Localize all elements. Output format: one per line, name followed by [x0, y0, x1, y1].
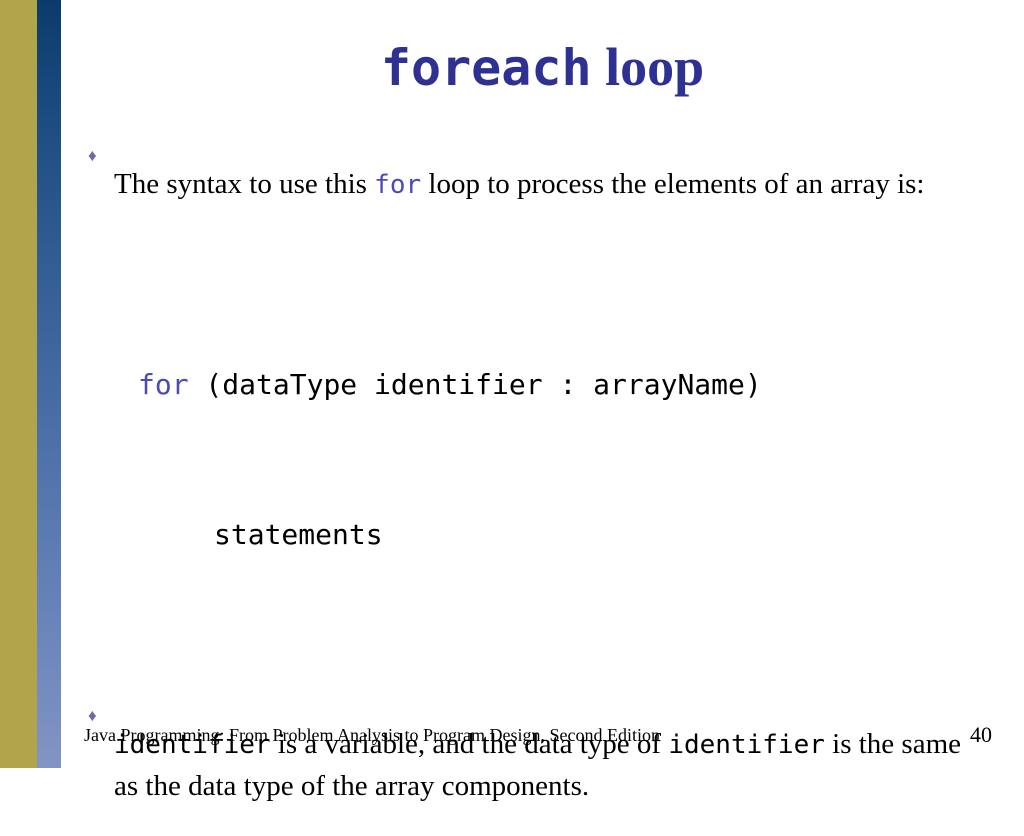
- code-signature-text: (dataType identifier : arrayName): [189, 368, 762, 401]
- page-title-code-part: foreach: [381, 39, 592, 97]
- left-blue-gradient-band: [37, 0, 61, 768]
- bullet-syntax-keyword-for: for: [374, 170, 421, 200]
- code-sample-line-signature: for (dataType identifier : arrayName): [138, 360, 988, 410]
- bullet-syntax-seg-2: loop to process the elements of an array…: [421, 168, 924, 200]
- slide-canvas: foreach loop ♦ The syntax to use this fo…: [0, 0, 1024, 768]
- left-gold-band: [0, 0, 37, 768]
- page-number: 40: [970, 722, 992, 748]
- bullet-item-syntax-text: The syntax to use this for loop to proce…: [114, 164, 988, 205]
- bullet-item-identifier: ♦ identifier is a variable, and the data…: [88, 695, 988, 836]
- bullet-syntax-seg-1: The syntax to use this: [114, 168, 374, 200]
- page-title: foreach loop: [61, 39, 1024, 96]
- bullet-item-syntax: ♦ The syntax to use this for loop to pro…: [88, 135, 988, 234]
- diamond-bullet-icon: ♦: [88, 135, 114, 176]
- code-keyword-for: for: [138, 368, 189, 401]
- bullet-identifier-code-2: identifier: [668, 730, 825, 760]
- footer-citation: Java Programming: From Problem Analysis …: [84, 725, 660, 746]
- code-sample-line-body: statements: [138, 510, 988, 560]
- code-sample: for (dataType identifier : arrayName) st…: [138, 260, 988, 660]
- page-title-text-part: loop: [592, 37, 705, 97]
